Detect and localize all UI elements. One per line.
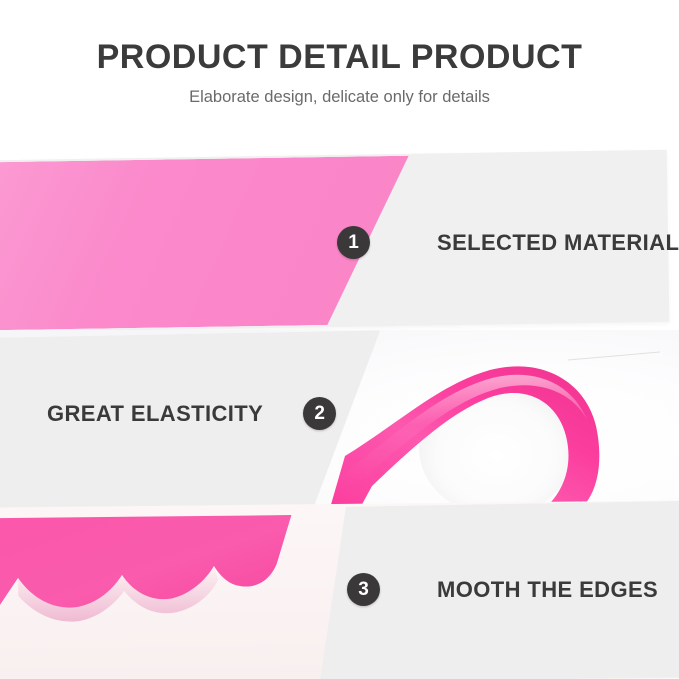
step-badge-2: 2 [303, 397, 336, 430]
step-badge-1: 1 [337, 226, 370, 259]
background-scratch-line [568, 352, 660, 360]
step-label-1: SELECTED MATERIAL [437, 230, 679, 256]
page-subtitle: Elaborate design, delicate only for deta… [0, 86, 679, 108]
step-badge-3: 3 [347, 573, 380, 606]
step-label-3: MOOTH THE EDGES [437, 577, 658, 603]
page-title: PRODUCT DETAIL PRODUCT [0, 37, 679, 77]
step-3: 3 MOOTH THE EDGES [347, 573, 658, 606]
step-label-2: GREAT ELASTICITY [47, 401, 263, 427]
step-2: GREAT ELASTICITY 2 [47, 397, 336, 430]
product-detail-infographic: PRODUCT DETAIL PRODUCT Elaborate design,… [0, 0, 679, 679]
step-1: 1 SELECTED MATERIAL [337, 226, 679, 259]
header: PRODUCT DETAIL PRODUCT Elaborate design,… [0, 0, 679, 140]
